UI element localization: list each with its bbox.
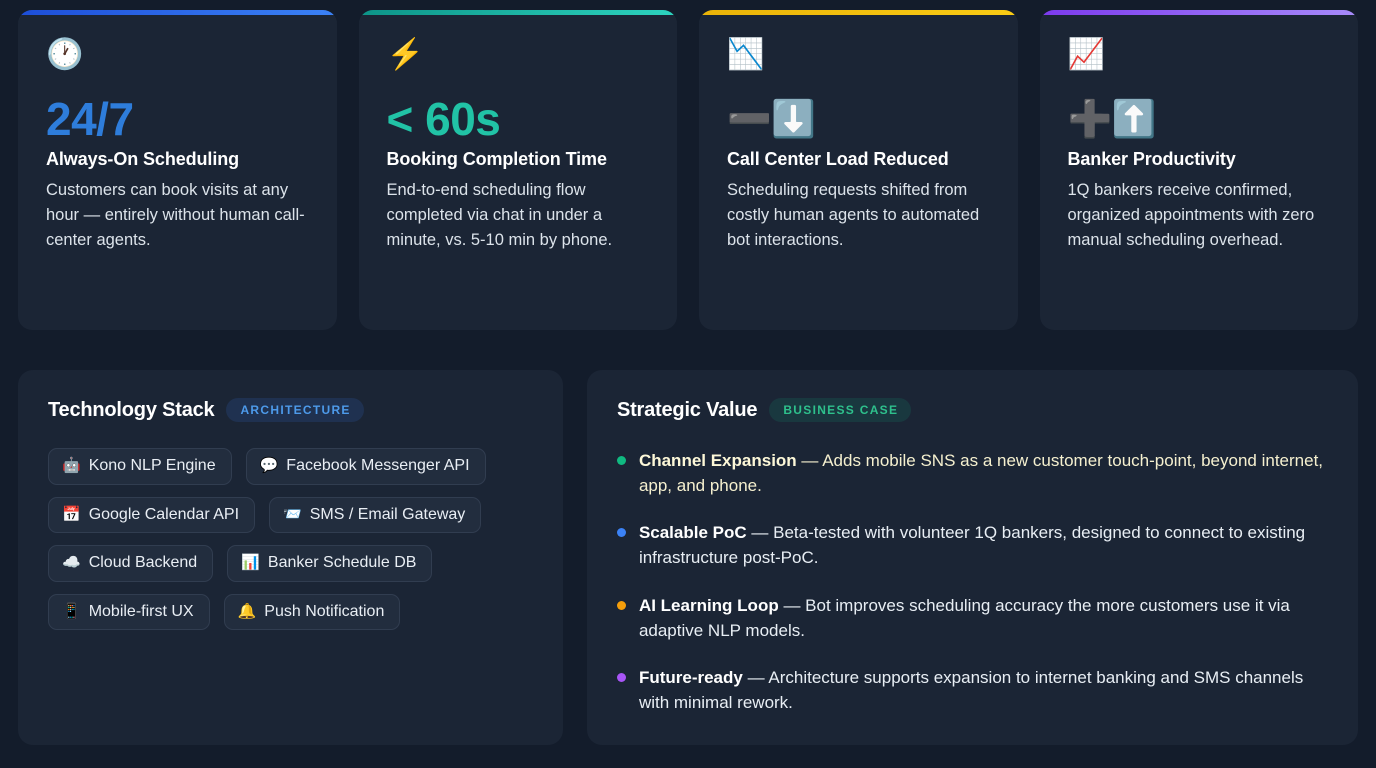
strategic-value-item: Future-ready — Architecture supports exp… bbox=[617, 665, 1328, 715]
tech-chip-label: Cloud Backend bbox=[89, 554, 198, 572]
strategic-value-item: AI Learning Loop — Bot improves scheduli… bbox=[617, 593, 1328, 643]
strategic-value-label: Future-ready bbox=[639, 668, 743, 687]
technology-stack-panel: Technology Stack ARCHITECTURE 🤖Kono NLP … bbox=[18, 370, 563, 745]
chart-increasing-icon: 📈 bbox=[1068, 40, 1331, 74]
lightning-bolt-icon: ⚡ bbox=[387, 40, 650, 74]
robot-icon: 🤖 bbox=[62, 458, 81, 473]
tech-chip-label: Facebook Messenger API bbox=[286, 457, 469, 475]
technology-chip-list: 🤖Kono NLP Engine💬Facebook Messenger API📅… bbox=[48, 448, 533, 630]
dashboard-page: 🕐24/7Always-On SchedulingCustomers can b… bbox=[0, 0, 1376, 768]
bullet-dot-icon bbox=[617, 456, 626, 465]
kpi-title: Always-On Scheduling bbox=[46, 149, 309, 170]
incoming-envelope-icon: 📨 bbox=[283, 507, 302, 522]
bullet-dot-icon bbox=[617, 601, 626, 610]
strategic-value-item: Channel Expansion — Adds mobile SNS as a… bbox=[617, 448, 1328, 498]
tech-chip-label: Mobile-first UX bbox=[89, 603, 194, 621]
kpi-description: End-to-end scheduling flow completed via… bbox=[387, 178, 650, 253]
strategic-value-label: Channel Expansion bbox=[639, 451, 797, 470]
cloud-icon: ☁️ bbox=[62, 555, 81, 570]
kpi-accent-bar bbox=[359, 10, 678, 15]
strategic-value-list: Channel Expansion — Adds mobile SNS as a… bbox=[617, 448, 1328, 715]
kpi-card: 📉➖⬇️Call Center Load ReducedScheduling r… bbox=[699, 10, 1018, 330]
kpi-value: 24/7 bbox=[46, 96, 309, 143]
technology-stack-title: Technology Stack bbox=[48, 399, 214, 422]
mobile-phone-icon: 📱 bbox=[62, 604, 81, 619]
strategic-value-title: Strategic Value bbox=[617, 399, 757, 422]
kpi-title: Call Center Load Reduced bbox=[727, 149, 990, 170]
kpi-card: 📈➕⬆️Banker Productivity1Q bankers receiv… bbox=[1040, 10, 1359, 330]
kpi-title: Booking Completion Time bbox=[387, 149, 650, 170]
tech-chip-label: Push Notification bbox=[264, 603, 384, 621]
strategic-value-label: Scalable PoC bbox=[639, 523, 747, 542]
panel-row: Technology Stack ARCHITECTURE 🤖Kono NLP … bbox=[18, 370, 1358, 745]
strategic-value-panel: Strategic Value BUSINESS CASE Channel Ex… bbox=[587, 370, 1358, 745]
strategic-value-header: Strategic Value BUSINESS CASE bbox=[617, 398, 1328, 422]
clock-icon: 🕐 bbox=[46, 40, 309, 74]
kpi-accent-bar bbox=[1040, 10, 1359, 15]
kpi-accent-bar bbox=[699, 10, 1018, 15]
kpi-card: ⚡< 60sBooking Completion TimeEnd-to-end … bbox=[359, 10, 678, 330]
kpi-accent-bar bbox=[18, 10, 337, 15]
strategic-value-item: Scalable PoC — Beta-tested with voluntee… bbox=[617, 520, 1328, 570]
kpi-card-row: 🕐24/7Always-On SchedulingCustomers can b… bbox=[18, 10, 1358, 330]
kpi-title: Banker Productivity bbox=[1068, 149, 1331, 170]
tech-chip-label: Google Calendar API bbox=[89, 506, 239, 524]
tech-chip[interactable]: ☁️Cloud Backend bbox=[48, 545, 213, 582]
tech-chip[interactable]: 📅Google Calendar API bbox=[48, 497, 255, 534]
kpi-value: ➕⬆️ bbox=[1068, 96, 1331, 143]
strategic-value-label: AI Learning Loop bbox=[639, 596, 779, 615]
kpi-description: Customers can book visits at any hour — … bbox=[46, 178, 309, 253]
tech-chip[interactable]: 📱Mobile-first UX bbox=[48, 594, 210, 631]
tech-chip-label: SMS / Email Gateway bbox=[310, 506, 466, 524]
kpi-value: ➖⬇️ bbox=[727, 96, 990, 143]
kpi-description: Scheduling requests shifted from costly … bbox=[727, 178, 990, 253]
bar-chart-icon: 📊 bbox=[241, 555, 260, 570]
calendar-icon: 📅 bbox=[62, 507, 81, 522]
bullet-dot-icon bbox=[617, 528, 626, 537]
tech-chip[interactable]: 📊Banker Schedule DB bbox=[227, 545, 432, 582]
kpi-description: 1Q bankers receive confirmed, organized … bbox=[1068, 178, 1331, 253]
kpi-card: 🕐24/7Always-On SchedulingCustomers can b… bbox=[18, 10, 337, 330]
tech-chip[interactable]: 🤖Kono NLP Engine bbox=[48, 448, 232, 485]
tech-chip-label: Banker Schedule DB bbox=[268, 554, 417, 572]
bullet-dot-icon bbox=[617, 673, 626, 682]
chart-decreasing-icon: 📉 bbox=[727, 40, 990, 74]
bell-icon: 🔔 bbox=[238, 604, 257, 619]
kpi-value: < 60s bbox=[387, 96, 650, 143]
tech-chip[interactable]: 💬Facebook Messenger API bbox=[246, 448, 486, 485]
business-case-badge: BUSINESS CASE bbox=[769, 398, 911, 422]
technology-stack-header: Technology Stack ARCHITECTURE bbox=[48, 398, 533, 422]
tech-chip[interactable]: 🔔Push Notification bbox=[224, 594, 401, 631]
speech-balloon-icon: 💬 bbox=[260, 458, 279, 473]
tech-chip[interactable]: 📨SMS / Email Gateway bbox=[269, 497, 481, 534]
tech-chip-label: Kono NLP Engine bbox=[89, 457, 216, 475]
architecture-badge: ARCHITECTURE bbox=[226, 398, 363, 422]
